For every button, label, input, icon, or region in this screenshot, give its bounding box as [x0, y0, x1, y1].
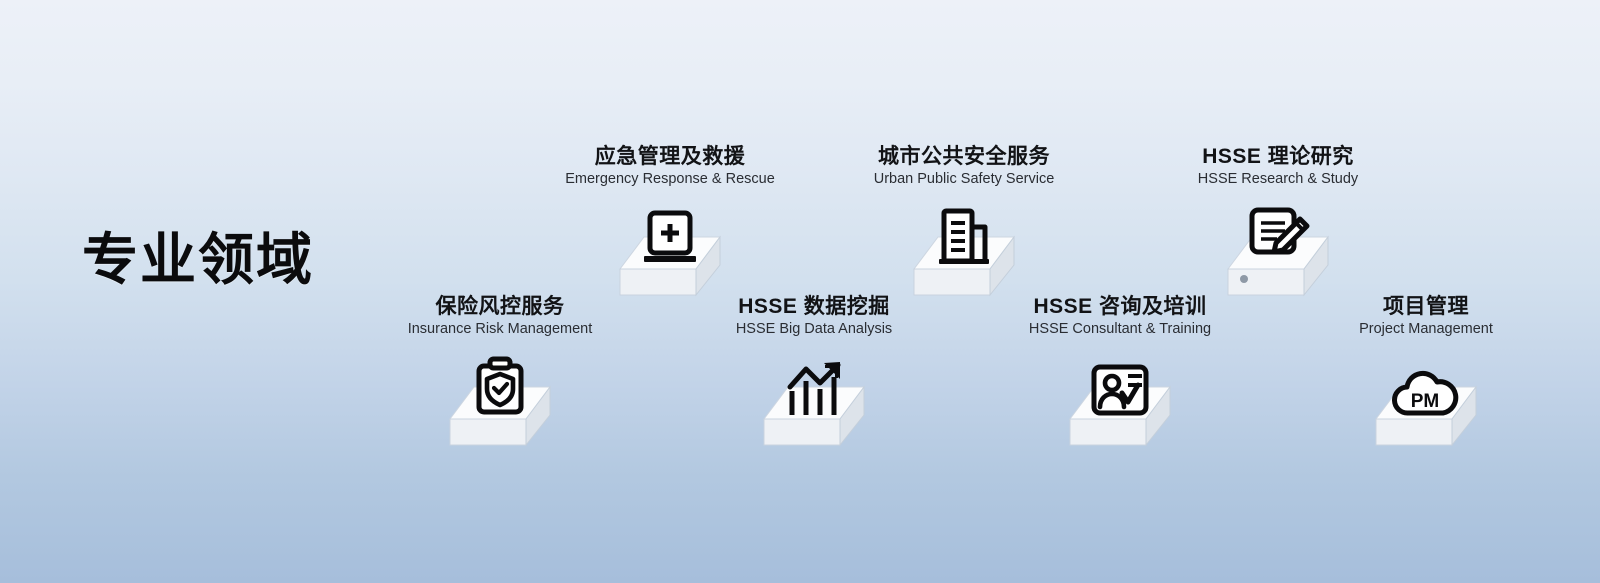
city-buildings-icon: [924, 189, 1004, 269]
domain-label-en: HSSE Big Data Analysis: [684, 320, 944, 339]
domain-label-cn: 城市公共安全服务: [834, 144, 1094, 169]
domain-item-urban-public-safety[interactable]: 城市公共安全服务 Urban Public Safety Service: [834, 144, 1094, 313]
first-aid-kit-icon: [630, 189, 710, 269]
professional-domains-banner: 专业领域 应急管理及救援 Emergency Response & Rescue: [0, 0, 1600, 583]
domain-label-cn: HSSE 咨询及培训: [990, 294, 1250, 319]
clipboard-shield-check-icon: [460, 339, 540, 419]
domain-label-cn: 项目管理: [1296, 294, 1556, 319]
domain-icon-pedestal: PM: [1296, 343, 1556, 463]
domain-label-en: HSSE Consultant & Training: [990, 320, 1250, 339]
domain-icon-pedestal: [990, 343, 1250, 463]
domain-label-en: Emergency Response & Rescue: [540, 170, 800, 189]
cloud-pm-icon: PM: [1386, 339, 1466, 419]
page-title: 专业领域: [82, 228, 314, 292]
domain-item-project-management[interactable]: 项目管理 Project Management PM: [1296, 294, 1556, 463]
domain-item-hsse-research[interactable]: HSSE 理论研究 HSSE Research & Study: [1148, 144, 1408, 313]
domain-label: 项目管理 Project Management: [1296, 294, 1556, 339]
domain-label: HSSE 数据挖掘 HSSE Big Data Analysis: [684, 294, 944, 339]
domain-item-hsse-big-data[interactable]: HSSE 数据挖掘 HSSE Big Data Analysis: [684, 294, 944, 463]
domain-label-en: Insurance Risk Management: [370, 320, 630, 339]
domain-item-emergency-response[interactable]: 应急管理及救援 Emergency Response & Rescue: [540, 144, 800, 313]
domain-label: HSSE 理论研究 HSSE Research & Study: [1148, 144, 1408, 189]
domain-label: 保险风控服务 Insurance Risk Management: [370, 294, 630, 339]
domain-label: 应急管理及救援 Emergency Response & Rescue: [540, 144, 800, 189]
domain-label-en: Project Management: [1296, 320, 1556, 339]
domain-item-hsse-consultant[interactable]: HSSE 咨询及培训 HSSE Consultant & Training: [990, 294, 1250, 463]
domain-label-en: Urban Public Safety Service: [834, 170, 1094, 189]
domain-icon-pedestal: [370, 343, 630, 463]
domain-item-insurance-risk[interactable]: 保险风控服务 Insurance Risk Management: [370, 294, 630, 463]
domain-icon-pedestal: [684, 343, 944, 463]
domain-label: 城市公共安全服务 Urban Public Safety Service: [834, 144, 1094, 189]
domain-label-cn: 保险风控服务: [370, 294, 630, 319]
bar-chart-trend-arrow-icon: [774, 339, 854, 419]
domain-label-cn: HSSE 数据挖掘: [684, 294, 944, 319]
id-card-person-check-icon: [1080, 339, 1160, 419]
domain-label-cn: HSSE 理论研究: [1148, 144, 1408, 169]
domain-label-cn: 应急管理及救援: [540, 144, 800, 169]
domain-label: HSSE 咨询及培训 HSSE Consultant & Training: [990, 294, 1250, 339]
pm-badge-text: PM: [1411, 391, 1440, 412]
domain-label-en: HSSE Research & Study: [1148, 170, 1408, 189]
document-pencil-icon: [1238, 189, 1318, 269]
